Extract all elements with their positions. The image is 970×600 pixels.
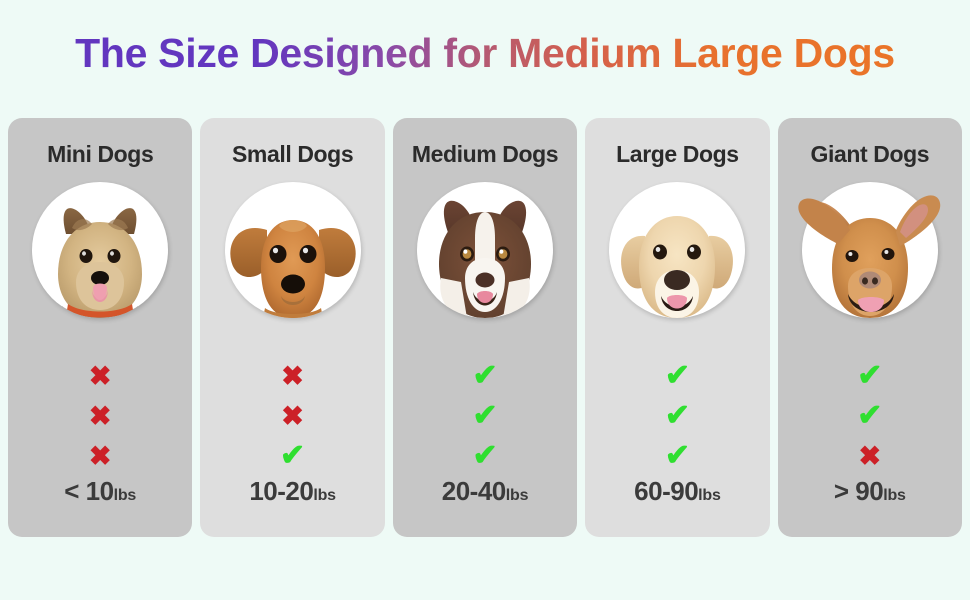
- weight-number: 10-20: [249, 476, 313, 506]
- compatibility-marks: ✖✖✔: [200, 356, 384, 476]
- weight-unit: lbs: [506, 487, 529, 504]
- weight-range: 60-90lbs: [585, 476, 769, 507]
- weight-unit: lbs: [114, 487, 137, 504]
- card-title: Medium Dogs: [412, 141, 558, 168]
- weight-range: 10-20lbs: [200, 476, 384, 507]
- dog-photo-pit-bull: [802, 182, 938, 318]
- dog-photo-border-collie: [417, 182, 553, 318]
- cross-icon: ✖: [89, 436, 112, 476]
- size-card-giant-dogs[interactable]: Giant Dogs: [778, 118, 962, 537]
- card-title: Large Dogs: [616, 141, 739, 168]
- compatibility-marks: ✔✔✔: [393, 356, 577, 476]
- weight-range: < 10lbs: [8, 476, 192, 507]
- size-card-medium-dogs[interactable]: Medium Dogs: [393, 118, 577, 537]
- size-card-large-dogs[interactable]: Large Dogs ✔✔✔60: [585, 118, 769, 537]
- dog-photo-golden-retriever: [609, 182, 745, 318]
- weight-unit: lbs: [313, 487, 336, 504]
- check-icon: ✔: [857, 356, 882, 396]
- size-card-mini-dogs[interactable]: Mini Dogs: [8, 118, 192, 537]
- compatibility-marks: ✖✖✖: [8, 356, 192, 476]
- cross-icon: ✖: [89, 396, 112, 436]
- cross-icon: ✖: [89, 356, 112, 396]
- dog-photo-circle: [32, 182, 168, 318]
- size-columns: Mini Dogs: [8, 118, 962, 537]
- weight-range: > 90lbs: [778, 476, 962, 507]
- weight-number: > 90: [834, 476, 883, 506]
- dog-photo-circle: [609, 182, 745, 318]
- check-icon: ✔: [665, 356, 690, 396]
- card-title: Giant Dogs: [810, 141, 929, 168]
- dog-photo-dachshund: [225, 182, 361, 318]
- cross-icon: ✖: [281, 356, 304, 396]
- dog-photo-yorkshire-terrier: [32, 182, 168, 318]
- size-card-small-dogs[interactable]: Small Dogs ✖✖✔10: [200, 118, 384, 537]
- weight-number: 60-90: [634, 476, 698, 506]
- check-icon: ✔: [472, 396, 497, 436]
- weight-number: < 10: [64, 476, 113, 506]
- check-icon: ✔: [472, 356, 497, 396]
- card-title: Small Dogs: [232, 141, 353, 168]
- weight-number: 20-40: [442, 476, 506, 506]
- size-chart-page: The Size Designed for Medium Large Dogs …: [0, 0, 970, 600]
- weight-unit: lbs: [698, 487, 721, 504]
- dog-photo-circle: [225, 182, 361, 318]
- check-icon: ✔: [665, 396, 690, 436]
- cross-icon: ✖: [859, 436, 882, 476]
- cross-icon: ✖: [281, 396, 304, 436]
- compatibility-marks: ✔✔✖: [778, 356, 962, 476]
- check-icon: ✔: [472, 436, 497, 476]
- page-title: The Size Designed for Medium Large Dogs: [75, 30, 895, 77]
- card-title: Mini Dogs: [47, 141, 153, 168]
- dog-photo-circle: [417, 182, 553, 318]
- check-icon: ✔: [857, 396, 882, 436]
- weight-range: 20-40lbs: [393, 476, 577, 507]
- check-icon: ✔: [280, 436, 305, 476]
- dog-photo-circle: [802, 182, 938, 318]
- weight-unit: lbs: [883, 487, 906, 504]
- check-icon: ✔: [665, 436, 690, 476]
- compatibility-marks: ✔✔✔: [585, 356, 769, 476]
- page-header: The Size Designed for Medium Large Dogs: [0, 0, 970, 100]
